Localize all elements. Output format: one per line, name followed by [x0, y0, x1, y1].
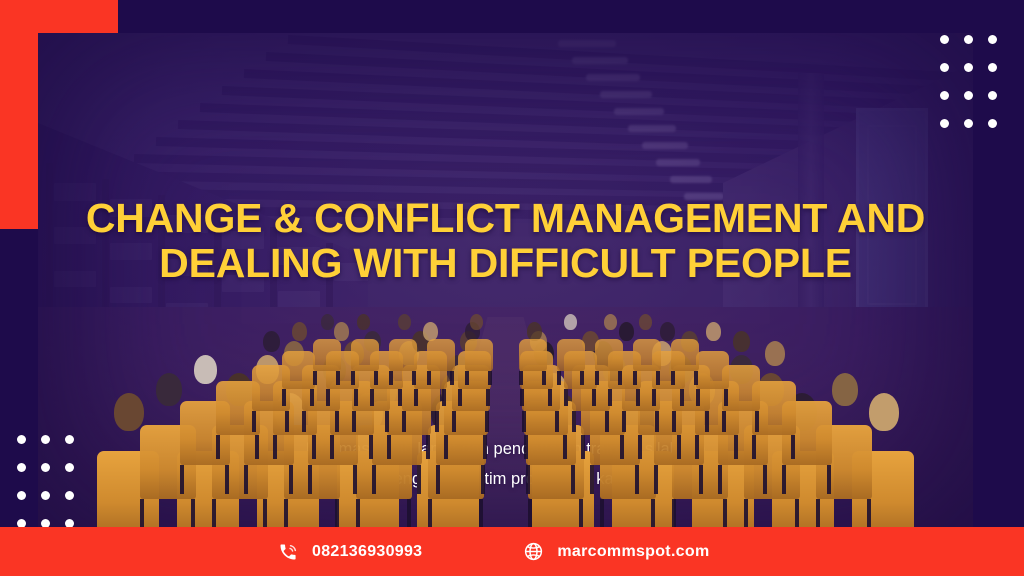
chair-leg [656, 371, 660, 385]
audience-head [194, 355, 217, 384]
decor-dot [41, 491, 50, 500]
decor-dot [940, 35, 949, 44]
chair-leg [308, 465, 312, 494]
chair-leg [557, 371, 561, 385]
phone-call-icon [277, 541, 299, 563]
contact-phone[interactable]: 082136930993 [277, 541, 422, 563]
chair-leg [488, 371, 492, 385]
chair-leg [465, 371, 469, 385]
decor-dot [940, 119, 949, 128]
chair-leg [335, 411, 339, 432]
decor-dot [41, 435, 50, 444]
chair-leg [225, 465, 229, 494]
chair-leg [427, 371, 431, 385]
chair-leg [655, 411, 659, 432]
chair-leg [284, 499, 288, 527]
chair-leg [651, 499, 655, 527]
audience-head [619, 322, 634, 341]
chair-leg [522, 411, 526, 432]
decor-dot [964, 63, 973, 72]
decor-dot [940, 63, 949, 72]
chair-leg [354, 389, 358, 406]
chair-leg [310, 389, 314, 406]
audience-chair [671, 339, 699, 371]
chair-leg [442, 389, 446, 406]
chair-leg [633, 371, 637, 385]
chair-leg [672, 411, 676, 432]
chair-leg [723, 499, 727, 527]
chair-leg [252, 411, 256, 432]
chair-leg [696, 389, 700, 406]
chair-leg [763, 465, 767, 494]
chair-leg [389, 371, 393, 385]
audience-head [832, 373, 858, 406]
chair-leg [867, 499, 871, 527]
chair-leg [458, 389, 462, 406]
chair-leg [791, 435, 795, 459]
chair-leg [428, 499, 432, 527]
chair-leg [724, 389, 728, 406]
chair-leg [263, 499, 267, 527]
chair-leg [191, 499, 195, 527]
chair-leg [548, 389, 552, 406]
chair-leg [620, 435, 624, 459]
chair-leg [385, 411, 389, 432]
decor-dot [988, 119, 997, 128]
chair-leg [370, 389, 374, 406]
chair-leg [526, 465, 530, 494]
chair-leg [528, 499, 532, 527]
audience-head [292, 322, 307, 341]
chair-leg [417, 465, 421, 494]
chair-leg [351, 371, 355, 385]
chair-leg [680, 389, 684, 406]
audience-head [660, 322, 675, 341]
chair-leg [352, 411, 356, 432]
audience-head [321, 314, 334, 330]
contact-website-url: marcommspot.com [557, 543, 709, 561]
chair-leg [579, 499, 583, 527]
chair-leg [313, 371, 317, 385]
decor-dot [988, 63, 997, 72]
chair-leg [356, 499, 360, 527]
chair-leg [255, 435, 259, 459]
chair-leg [699, 465, 703, 494]
chair-leg [755, 411, 759, 432]
chair-leg [671, 371, 675, 385]
audience-chair [557, 339, 585, 371]
contact-bar: 082136930993 marcommspot.com [0, 527, 1024, 576]
audience-head [114, 393, 144, 431]
chair-leg [285, 411, 289, 432]
chair-leg [180, 465, 184, 494]
decor-dot [988, 91, 997, 100]
audience-chair [389, 339, 417, 371]
audience-head [604, 314, 617, 330]
chair-leg [542, 371, 546, 385]
chair-leg [374, 371, 378, 385]
decor-dot [964, 119, 973, 128]
chair-leg [302, 411, 306, 432]
audience-head [263, 331, 280, 352]
chair-leg [435, 411, 439, 432]
chair-leg [140, 499, 144, 527]
audience-chair [519, 339, 547, 371]
decor-dot [65, 463, 74, 472]
chair-leg [481, 465, 485, 494]
chair-leg [592, 389, 596, 406]
chair-leg [282, 389, 286, 406]
dot-grid-bottom-left [17, 435, 81, 535]
chair-leg [244, 465, 248, 494]
chair-leg [485, 411, 489, 432]
chair-leg [273, 435, 277, 459]
decor-dot [65, 435, 74, 444]
chair-leg [595, 371, 599, 385]
chair-leg [608, 389, 612, 406]
chair-leg [705, 411, 709, 432]
contact-phone-number: 082136930993 [312, 543, 422, 561]
audience-head [706, 322, 721, 341]
chair-leg [452, 411, 456, 432]
audience-head [398, 314, 411, 330]
chair-leg [827, 465, 831, 494]
chair-leg [654, 465, 658, 494]
audience-chair [696, 351, 729, 389]
chair-leg [816, 499, 820, 527]
audience-head [357, 314, 370, 330]
decor-dot [964, 91, 973, 100]
chair-leg [782, 465, 786, 494]
chair-leg [479, 499, 483, 527]
chair-leg [638, 435, 642, 459]
chair-leg [436, 465, 440, 494]
decor-dot [17, 491, 26, 500]
chair-leg [520, 389, 524, 406]
audience-chair [427, 339, 455, 371]
decor-dot [940, 91, 949, 100]
audience-head [156, 373, 182, 406]
audience-head [639, 314, 652, 330]
chair-leg [372, 465, 376, 494]
chair-leg [636, 389, 640, 406]
chair-leg [524, 435, 528, 459]
chair-leg [426, 435, 430, 459]
audience-head [869, 393, 899, 431]
audience-chair [313, 339, 341, 371]
chair-leg [444, 435, 448, 459]
chair-leg [216, 435, 220, 459]
audience-chair [595, 339, 623, 371]
dot-grid-top-right [940, 35, 1004, 135]
chair-leg [652, 389, 656, 406]
chair-leg [695, 435, 699, 459]
chair-leg [580, 371, 584, 385]
audience-head [470, 314, 483, 330]
chair-leg [744, 499, 748, 527]
chair-leg [402, 411, 406, 432]
chair-leg [312, 435, 316, 459]
chair-leg [795, 499, 799, 527]
chair-leg [555, 411, 559, 432]
audience-head [733, 331, 750, 352]
chair-leg [353, 465, 357, 494]
audience-head [564, 314, 577, 330]
chair-leg [752, 435, 756, 459]
page-title: CHANGE & CONFLICT MANAGEMENT AND DEALING… [38, 196, 973, 286]
chair-leg [635, 465, 639, 494]
chair-leg [414, 389, 418, 406]
chair-leg [335, 499, 339, 527]
audience-chair [465, 339, 493, 371]
chair-leg [564, 389, 568, 406]
chair-leg [326, 389, 330, 406]
decor-dot [41, 463, 50, 472]
chair-leg [412, 371, 416, 385]
chair-leg [600, 499, 604, 527]
chair-leg [519, 371, 523, 385]
audience-chair [633, 339, 661, 371]
contact-website[interactable]: marcommspot.com [522, 541, 709, 563]
chair-leg [718, 465, 722, 494]
chair-leg [694, 371, 698, 385]
chair-leg [336, 371, 340, 385]
decor-dot [65, 491, 74, 500]
globe-icon [522, 541, 544, 563]
chair-leg [486, 389, 490, 406]
chair-leg [369, 435, 373, 459]
decor-dot [964, 35, 973, 44]
chair-leg [450, 371, 454, 385]
poster-canvas: CHANGE & CONFLICT MANAGEMENT AND DEALING… [0, 0, 1024, 576]
audience-head [765, 341, 785, 366]
chair-leg [722, 411, 726, 432]
chair-leg [590, 465, 594, 494]
decor-dot [988, 35, 997, 44]
chair-leg [672, 499, 676, 527]
chair-leg [563, 435, 567, 459]
chair-leg [398, 389, 402, 406]
audience-chair [351, 339, 379, 371]
decor-dot [17, 435, 26, 444]
chair-leg [212, 499, 216, 527]
chair-leg [622, 411, 626, 432]
chair-leg [289, 465, 293, 494]
chair-leg [387, 435, 391, 459]
backdrop-navy-top [0, 0, 1024, 33]
chair-leg [605, 411, 609, 432]
chair-leg [407, 499, 411, 527]
chair-leg [618, 371, 622, 385]
chair-leg [330, 435, 334, 459]
audience-head [334, 322, 349, 341]
chair-leg [677, 435, 681, 459]
chair-leg [581, 435, 585, 459]
audience-chair [282, 351, 315, 389]
chair-leg [572, 411, 576, 432]
decor-dot [17, 463, 26, 472]
chair-leg [571, 465, 575, 494]
chair-leg [483, 435, 487, 459]
chair-leg [734, 435, 738, 459]
